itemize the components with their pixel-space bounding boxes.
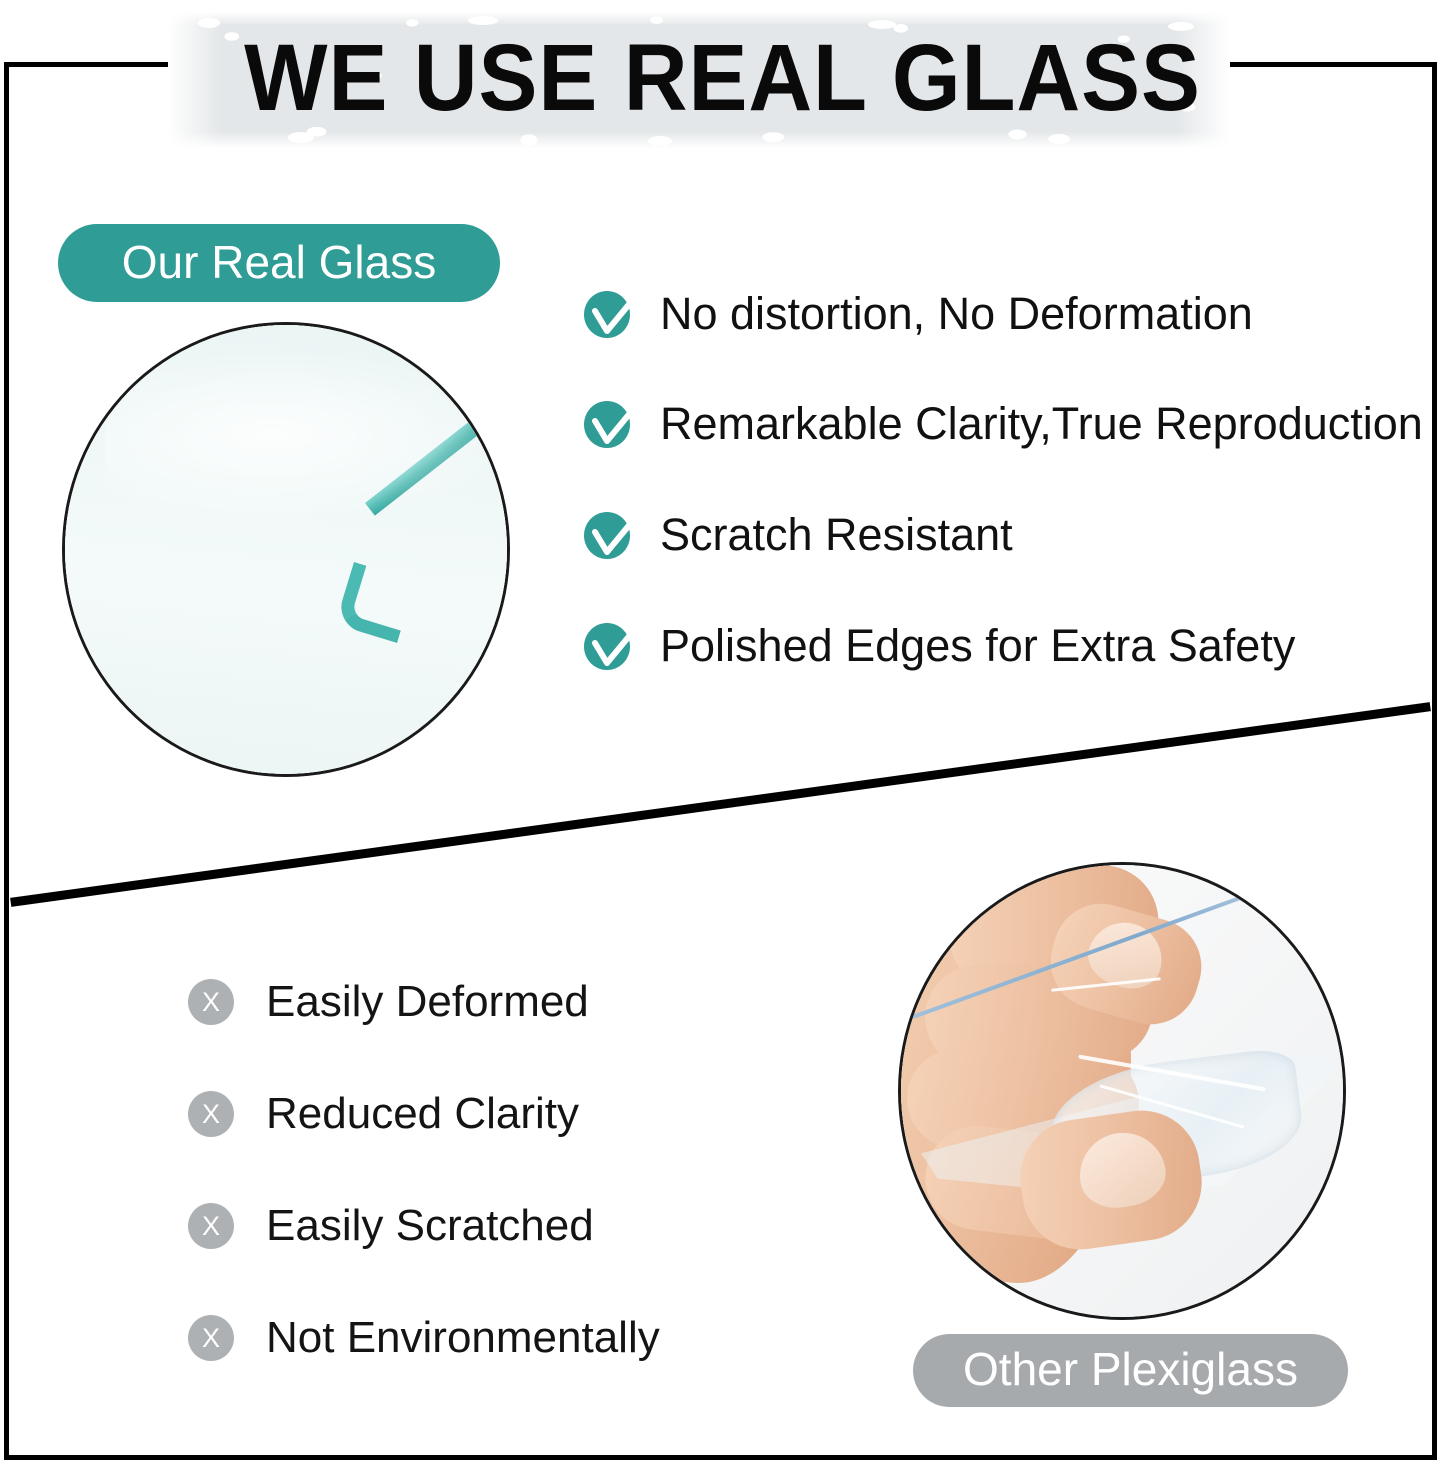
list-item-label: Scratch Resistant bbox=[660, 511, 1013, 559]
list-item-label: Easily Deformed bbox=[266, 978, 589, 1026]
x-icon: X bbox=[188, 979, 234, 1025]
list-item: X Not Environmentally bbox=[188, 1314, 660, 1362]
list-item-label: No distortion, No Deformation bbox=[660, 290, 1253, 338]
list-item: No distortion, No Deformation bbox=[584, 289, 1253, 339]
page-title: WE USE REAL GLASS bbox=[51, 26, 1395, 130]
other-plexiglass-badge: Other Plexiglass bbox=[913, 1334, 1348, 1407]
list-item-label: Remarkable Clarity,True Reproduction bbox=[660, 400, 1423, 448]
check-icon bbox=[584, 510, 631, 560]
list-item: Polished Edges for Extra Safety bbox=[584, 621, 1295, 671]
check-icon bbox=[584, 399, 631, 449]
list-item-label: Not Environmentally bbox=[266, 1314, 660, 1362]
x-icon: X bbox=[188, 1315, 234, 1361]
x-icon: X bbox=[188, 1203, 234, 1249]
list-item: Scratch Resistant bbox=[584, 510, 1013, 560]
list-item: Remarkable Clarity,True Reproduction bbox=[584, 399, 1423, 449]
x-icon: X bbox=[188, 1091, 234, 1137]
list-item: X Easily Deformed bbox=[188, 978, 589, 1026]
check-icon bbox=[584, 621, 631, 671]
list-item: X Easily Scratched bbox=[188, 1202, 594, 1250]
our-real-glass-badge: Our Real Glass bbox=[58, 224, 500, 302]
check-icon bbox=[584, 289, 631, 339]
glass-surface-sheen bbox=[105, 345, 510, 525]
list-item-label: Polished Edges for Extra Safety bbox=[660, 622, 1295, 670]
list-item: X Reduced Clarity bbox=[188, 1090, 579, 1138]
list-item-label: Easily Scratched bbox=[266, 1202, 594, 1250]
real-glass-photo bbox=[62, 322, 510, 777]
plexiglass-photo bbox=[898, 862, 1346, 1320]
list-item-label: Reduced Clarity bbox=[266, 1090, 579, 1138]
infographic-poster: WE USE REAL GLASS Our Real Glass No dist… bbox=[0, 0, 1445, 1470]
